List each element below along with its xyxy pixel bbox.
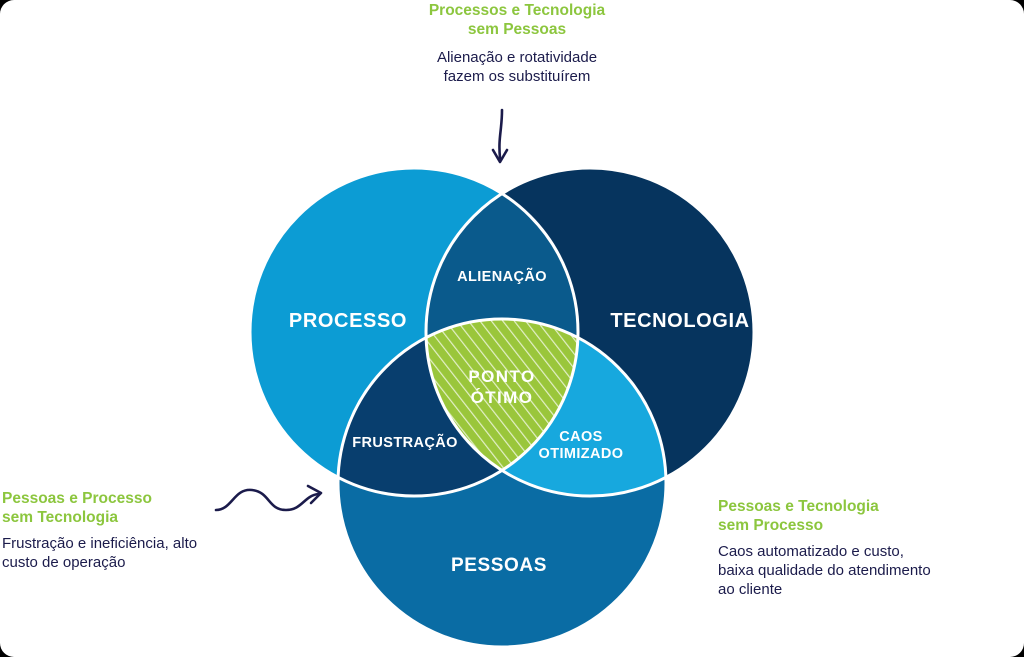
diagram-canvas: PROCESSO TECNOLOGIA PESSOAS ALIENAÇÃO FR… [0, 0, 1024, 657]
annotation-left-body-line1: Frustração e ineficiência, alto [2, 534, 262, 553]
annotation-top-title-line2: sem Pessoas [352, 21, 682, 40]
annotation-top-body-line1: Alienação e rotatividade [352, 48, 682, 67]
annotation-right-title: Pessoas e Tecnologia sem Processo [718, 498, 1018, 536]
annotation-right: Pessoas e Tecnologia sem Processo Caos a… [718, 498, 1018, 599]
annotation-right-title-line2: sem Processo [718, 517, 1018, 536]
annotation-left-body: Frustração e ineficiência, alto custo de… [2, 534, 262, 572]
annotation-top-body: Alienação e rotatividade fazem os substi… [352, 48, 682, 86]
annotation-left-body-line2: custo de operação [2, 553, 262, 572]
annotation-left-title-line2: sem Tecnologia [2, 509, 262, 528]
annotation-top-title: Processos e Tecnologia sem Pessoas [352, 2, 682, 40]
annotation-right-body-line3: ao cliente [718, 580, 1018, 599]
annotation-right-body-line2: baixa qualidade do atendimento [718, 561, 1018, 580]
annotation-top-title-line1: Processos e Tecnologia [352, 2, 682, 21]
annotation-right-title-line1: Pessoas e Tecnologia [718, 498, 1018, 517]
annotation-left: Pessoas e Processo sem Tecnologia Frustr… [2, 490, 262, 572]
annotation-top-body-line2: fazem os substituírem [352, 67, 682, 86]
annotation-left-title: Pessoas e Processo sem Tecnologia [2, 490, 262, 528]
annotation-top: Processos e Tecnologia sem Pessoas Alien… [352, 2, 682, 86]
annotation-right-body: Caos automatizado e custo, baixa qualida… [718, 542, 1018, 600]
annotation-left-title-line1: Pessoas e Processo [2, 490, 262, 509]
annotation-right-body-line1: Caos automatizado e custo, [718, 542, 1018, 561]
